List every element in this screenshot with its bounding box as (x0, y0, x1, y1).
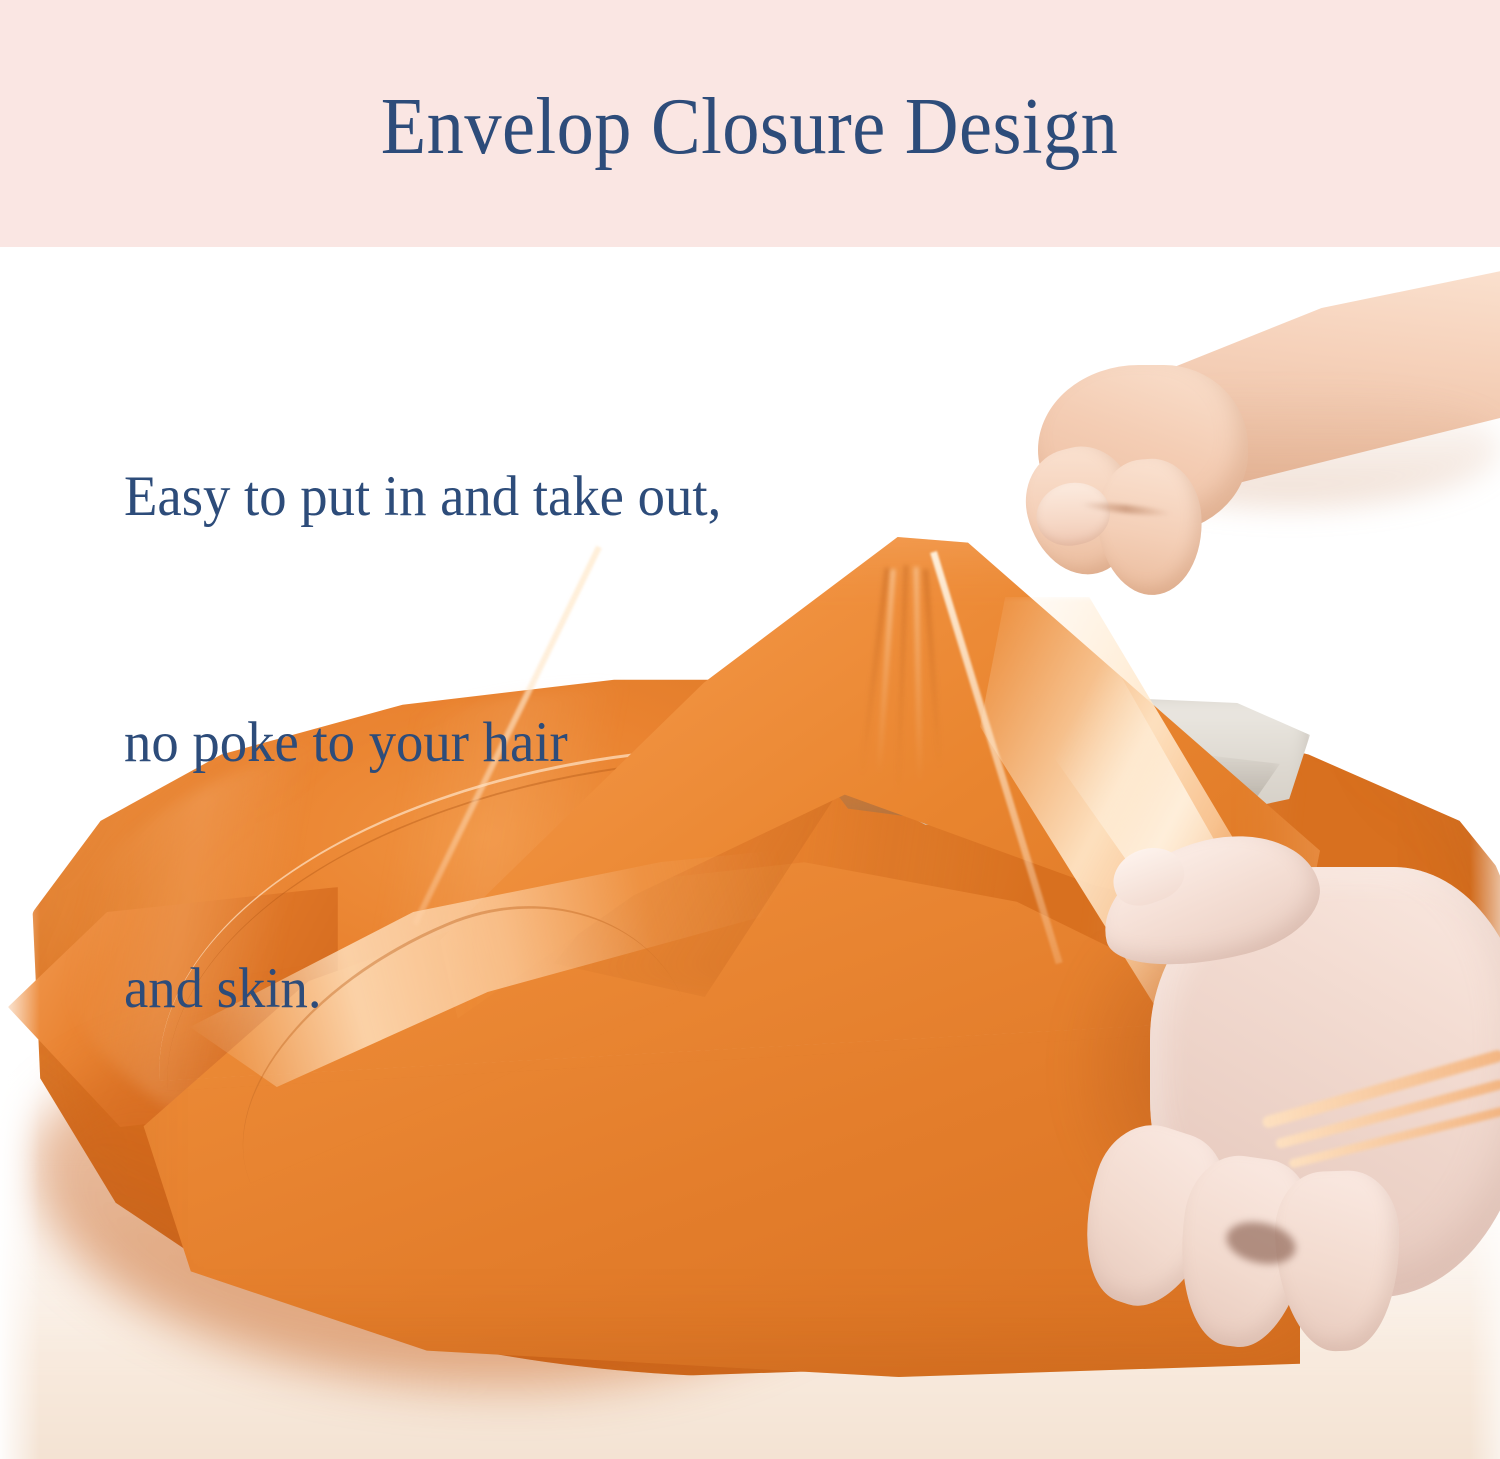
description-line-1: Easy to put in and take out, (124, 456, 721, 538)
page-title: Envelop Closure Design (381, 87, 1119, 167)
feature-description: Easy to put in and take out, no poke to … (124, 292, 721, 1194)
header-band: Envelop Closure Design (0, 0, 1500, 247)
description-line-3: and skin. (124, 948, 721, 1030)
description-line-2: no poke to your hair (124, 702, 721, 784)
finger (1273, 1169, 1403, 1353)
top-hand (780, 247, 1500, 577)
right-hand (1030, 827, 1500, 1347)
product-feature-image: Envelop Closure Design Easy to put in an… (0, 0, 1500, 1459)
